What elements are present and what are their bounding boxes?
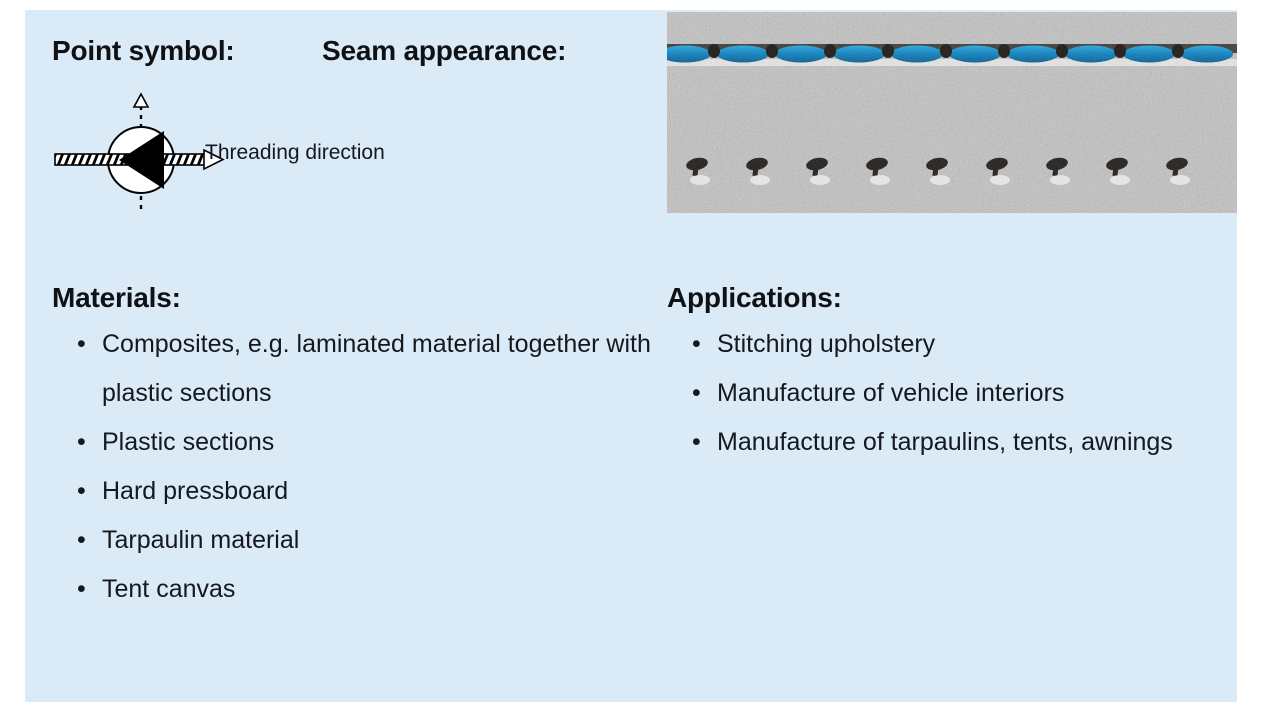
list-item-label: Tent canvas [102,565,652,614]
point-symbol-heading: Point symbol: [52,35,235,67]
bullet-icon: • [77,418,88,467]
list-item: • Manufacture of vehicle interiors [667,369,1227,418]
list-item-label: Stitching upholstery [717,320,1227,369]
applications-list: • Stitching upholstery • Manufacture of … [667,320,1227,467]
materials-column: Materials: • Composites, e.g. laminated … [52,282,652,614]
list-item: • Composites, e.g. laminated material to… [52,320,652,418]
threading-direction-label: Threading direction [205,141,385,165]
bullet-icon: • [77,516,88,565]
list-item-label: Manufacture of tarpaulins, tents, awning… [717,418,1227,467]
list-item: • Plastic sections [52,418,652,467]
list-item-label: Composites, e.g. laminated material toge… [102,320,652,418]
bullet-icon: • [692,418,703,467]
list-item-label: Hard pressboard [102,467,652,516]
list-item: • Manufacture of tarpaulins, tents, awni… [667,418,1227,467]
applications-column: Applications: • Stitching upholstery • M… [667,282,1227,467]
list-item-label: Tarpaulin material [102,516,652,565]
seam-appearance-heading: Seam appearance: [322,35,566,67]
bullet-icon: • [692,369,703,418]
seam-photo-graphic [667,12,1237,213]
list-item: • Stitching upholstery [667,320,1227,369]
materials-title: Materials: [52,282,652,314]
slide-panel: Point symbol: Seam appearance: Thr [25,10,1237,702]
list-item: • Hard pressboard [52,467,652,516]
bullet-icon: • [77,320,88,369]
materials-list: • Composites, e.g. laminated material to… [52,320,652,614]
list-item: • Tent canvas [52,565,652,614]
list-item-label: Manufacture of vehicle interiors [717,369,1227,418]
applications-title: Applications: [667,282,1227,314]
seam-appearance-photo [667,12,1237,213]
bullet-icon: • [77,565,88,614]
vertical-axis-arrowhead [134,94,148,107]
bullet-icon: • [692,320,703,369]
list-item-label: Plastic sections [102,418,652,467]
bullet-icon: • [77,467,88,516]
list-item: • Tarpaulin material [52,516,652,565]
